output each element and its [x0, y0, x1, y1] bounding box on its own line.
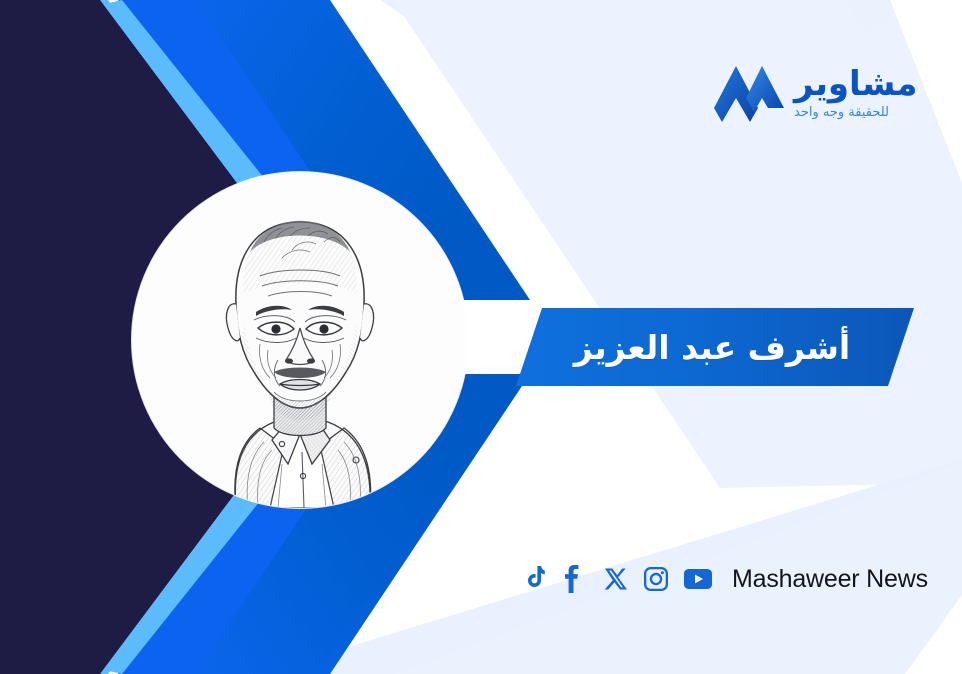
facebook-icon[interactable] — [564, 562, 604, 596]
logo-tagline: للحقيقة وجه واحد — [794, 105, 889, 121]
person-name: أشرف عبد العزيز — [516, 308, 914, 386]
logo-word: مشاوير — [794, 67, 917, 101]
x-twitter-icon[interactable] — [604, 562, 644, 596]
person-name-banner: أشرف عبد العزيز — [516, 308, 914, 386]
portrait-sketch — [132, 172, 468, 508]
mashaweer-m-mark — [712, 64, 784, 126]
portrait-avatar — [132, 172, 468, 508]
social-handle-text: Mashaweer News — [732, 565, 928, 594]
instagram-icon[interactable] — [644, 562, 684, 596]
brand-logo: مشاوير للحقيقة وجه واحد — [712, 54, 912, 136]
youtube-icon[interactable] — [684, 562, 724, 596]
news-card: مشاوير للحقيقة وجه واحد أشرف عبد العزيز — [0, 0, 962, 674]
logo-wordmark: مشاوير للحقيقة وجه واحد — [794, 67, 917, 123]
tiktok-icon[interactable] — [524, 562, 564, 596]
social-links-row: Mashaweer News — [524, 560, 928, 598]
